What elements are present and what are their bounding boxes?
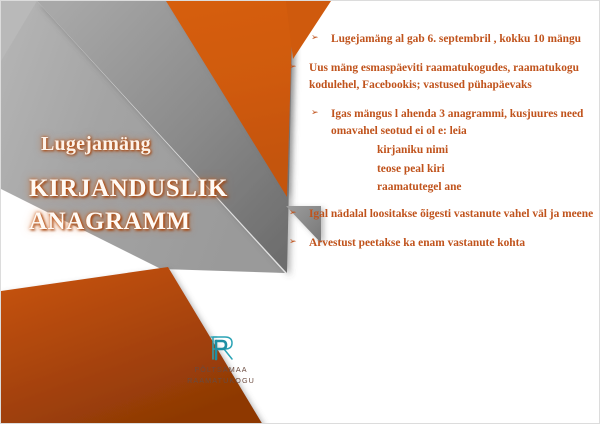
poster-slide: Lugejamäng KIRJANDUSLIK ANAGRAMM PÕLTSAM… <box>0 0 600 424</box>
list-item: ➢Igal nädalal loositakse õigesti vastanu… <box>289 206 595 222</box>
bullet-arrow-icon: ➢ <box>311 31 331 46</box>
list-item: ➢Lugejamäng al gab 6. septembril , kokku… <box>289 31 595 47</box>
gray-corner-strip <box>1 1 37 61</box>
title-block: Lugejamäng KIRJANDUSLIK ANAGRAMM <box>29 133 279 239</box>
bullet-arrow-icon: ➢ <box>289 235 309 250</box>
logo-name-line-1: PÕLTSAMAA <box>179 365 263 376</box>
sub-list-item: raamatutegel ane <box>377 178 595 196</box>
list-item-text: Igas mängus l ahenda 3 anagrammi, kusjuu… <box>331 106 595 139</box>
list-item-text: Arvestust peetakse ka enam vastanute koh… <box>309 235 595 251</box>
logo-name-line-2: RAAMATUKOGU <box>179 376 263 387</box>
list-item-text: Igal nädalal loositakse õigesti vastanut… <box>309 206 595 222</box>
title-kicker: Lugejamäng <box>41 133 279 156</box>
list-item: ➢Arvestust peetakse ka enam vastanute ko… <box>289 235 595 251</box>
spacer <box>289 197 595 206</box>
bullet-list: ➢Lugejamäng al gab 6. septembril , kokku… <box>289 31 595 264</box>
list-item: ➢Igas mängus l ahenda 3 anagrammi, kusju… <box>289 106 595 139</box>
logo-wordmark: PÕLTSAMAA RAAMATUKOGU <box>179 365 263 387</box>
title-line-1: KIRJANDUSLIK <box>29 172 279 205</box>
bullet-arrow-icon: ➢ <box>289 206 309 221</box>
sub-list: kirjaniku nimiteose peal kiriraamatutege… <box>289 141 595 196</box>
list-item-text: Lugejamäng al gab 6. septembril , kokku … <box>331 31 595 47</box>
bullet-arrow-icon: ➢ <box>289 60 309 75</box>
sub-list-item: kirjaniku nimi <box>377 141 595 159</box>
pr-monogram-icon <box>201 333 241 363</box>
sub-list-item: teose peal kiri <box>377 160 595 178</box>
library-logo: PÕLTSAMAA RAAMATUKOGU <box>179 333 263 387</box>
list-item: ➢Uus mäng esmaspäeviti raamatukogudes, r… <box>289 60 595 93</box>
page-title: KIRJANDUSLIK ANAGRAMM <box>29 172 279 239</box>
bullet-arrow-icon: ➢ <box>311 106 331 121</box>
list-item-text: Uus mäng esmaspäeviti raamatukogudes, ra… <box>309 60 595 93</box>
title-line-2: ANAGRAMM <box>29 205 279 238</box>
